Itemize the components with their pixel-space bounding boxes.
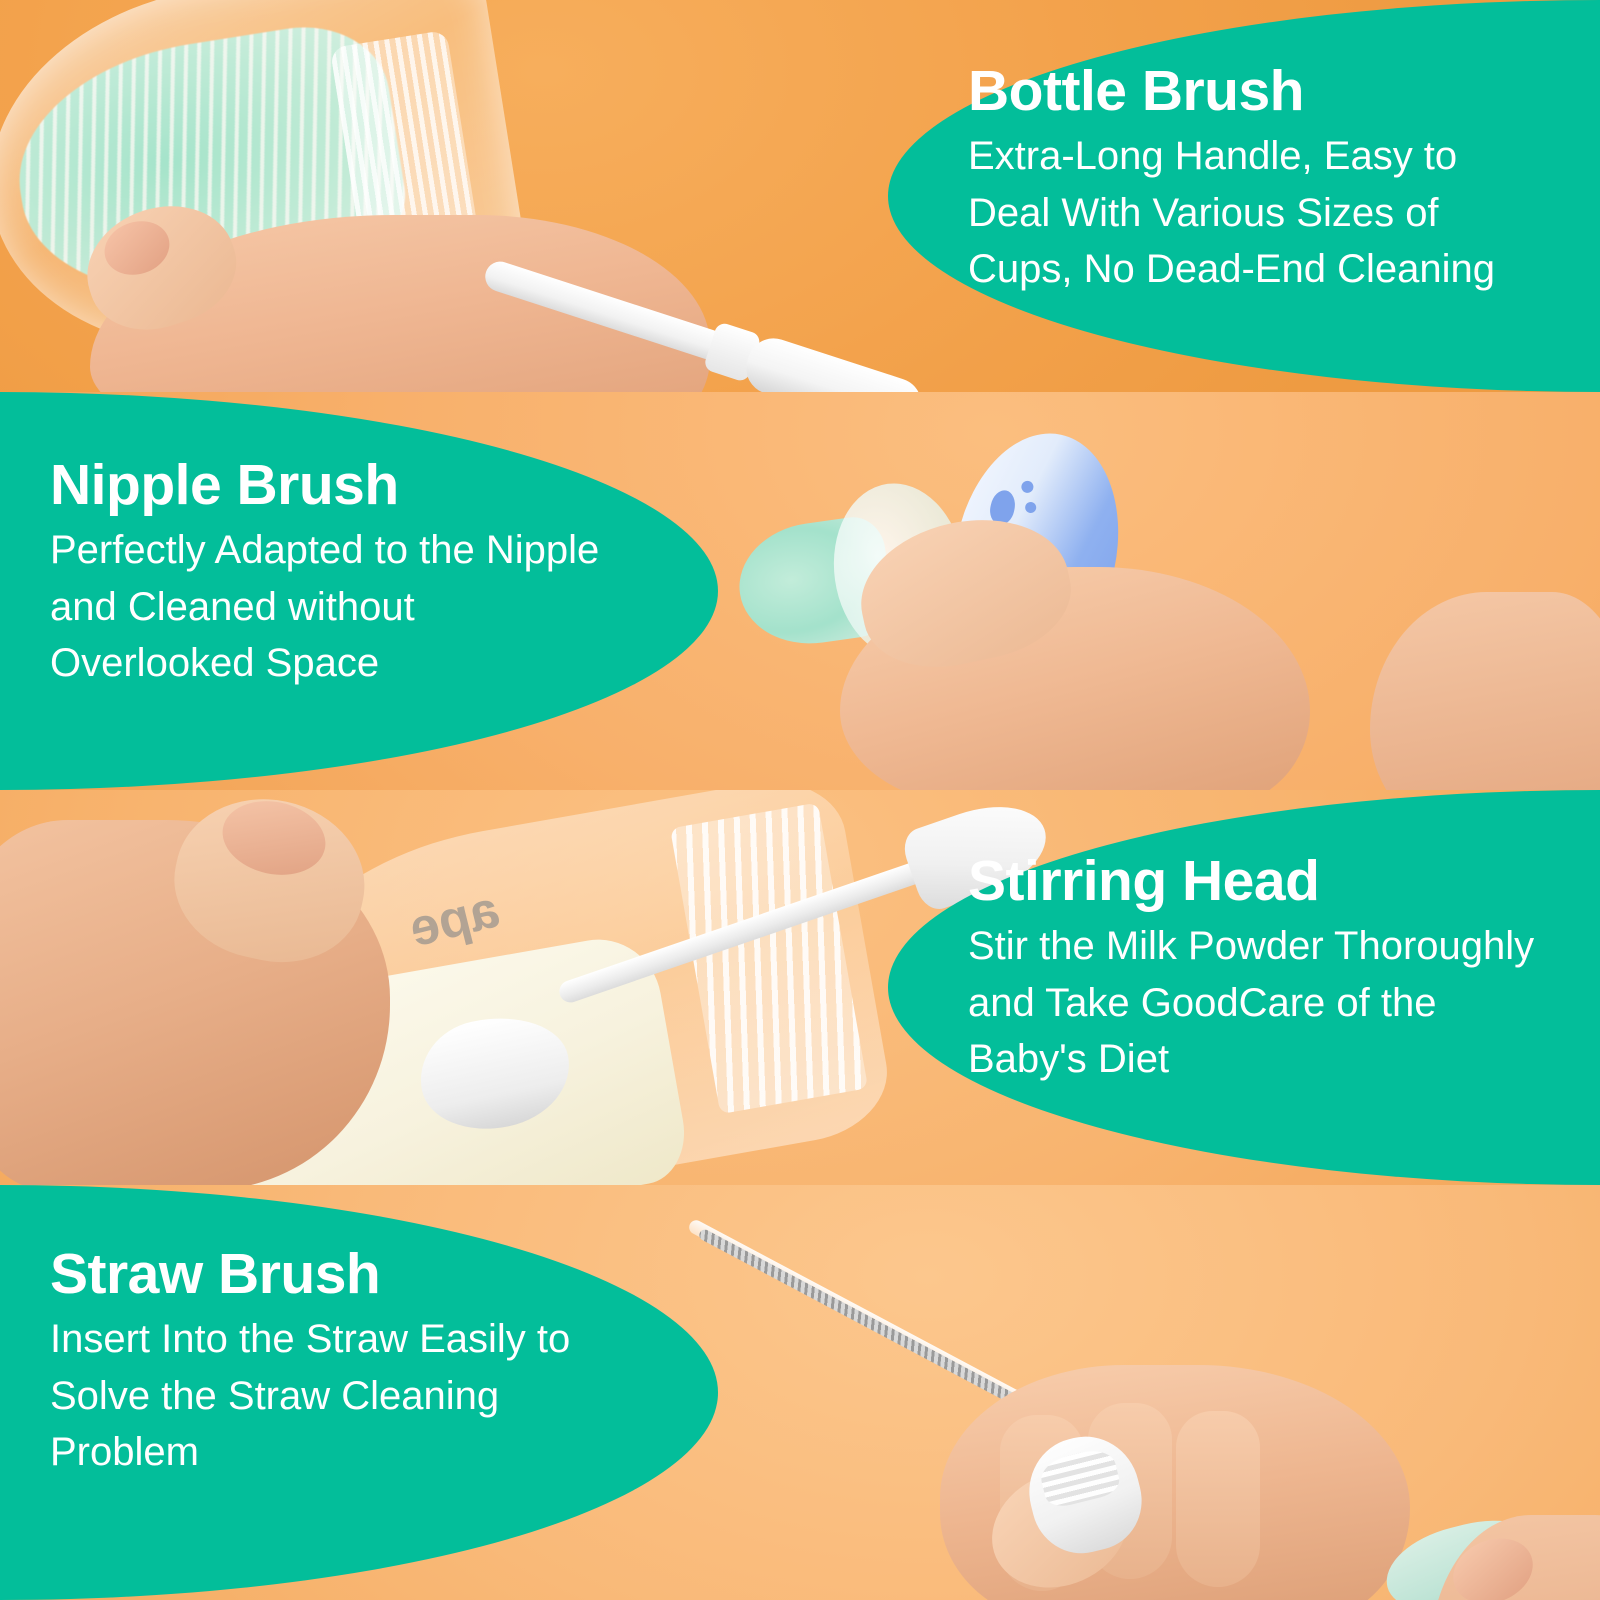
panel-1-description: Extra-Long Handle, Easy to Deal With Var… xyxy=(968,128,1543,298)
panel-4-title: Straw Brush xyxy=(50,1245,625,1305)
panel-4-description: Insert Into the Straw Easily to Solve th… xyxy=(50,1311,625,1481)
panel-2-description: Perfectly Adapted to the Nipple and Clea… xyxy=(50,522,625,692)
panel-1-copy: Bottle Brush Extra-Long Handle, Easy to … xyxy=(968,62,1543,298)
brush-grip-icon xyxy=(740,332,928,392)
feature-panel-straw-brush: Straw Brush Insert Into the Straw Easily… xyxy=(0,1185,1600,1600)
panel-3-title: Stirring Head xyxy=(968,852,1543,912)
feature-panel-stirring-head: ape Stirring Head Stir the Milk Powder T… xyxy=(0,790,1600,1185)
panel-4-copy: Straw Brush Insert Into the Straw Easily… xyxy=(50,1245,625,1481)
product-feature-infographic: Bottle Brush Extra-Long Handle, Easy to … xyxy=(0,0,1600,1600)
panel-2-copy: Nipple Brush Perfectly Adapted to the Ni… xyxy=(50,456,625,692)
panel-3-copy: Stirring Head Stir the Milk Powder Thoro… xyxy=(968,852,1543,1088)
panel-3-description: Stir the Milk Powder Thoroughly and Take… xyxy=(968,918,1543,1088)
second-hand-illustration xyxy=(1370,592,1600,790)
panel-2-title: Nipple Brush xyxy=(50,456,625,516)
feature-panel-nipple-brush: Zloxx Nipple Brush Perfectly Adapted to … xyxy=(0,392,1600,790)
feature-panel-bottle-brush: Bottle Brush Extra-Long Handle, Easy to … xyxy=(0,0,1600,392)
panel-1-title: Bottle Brush xyxy=(968,62,1543,122)
